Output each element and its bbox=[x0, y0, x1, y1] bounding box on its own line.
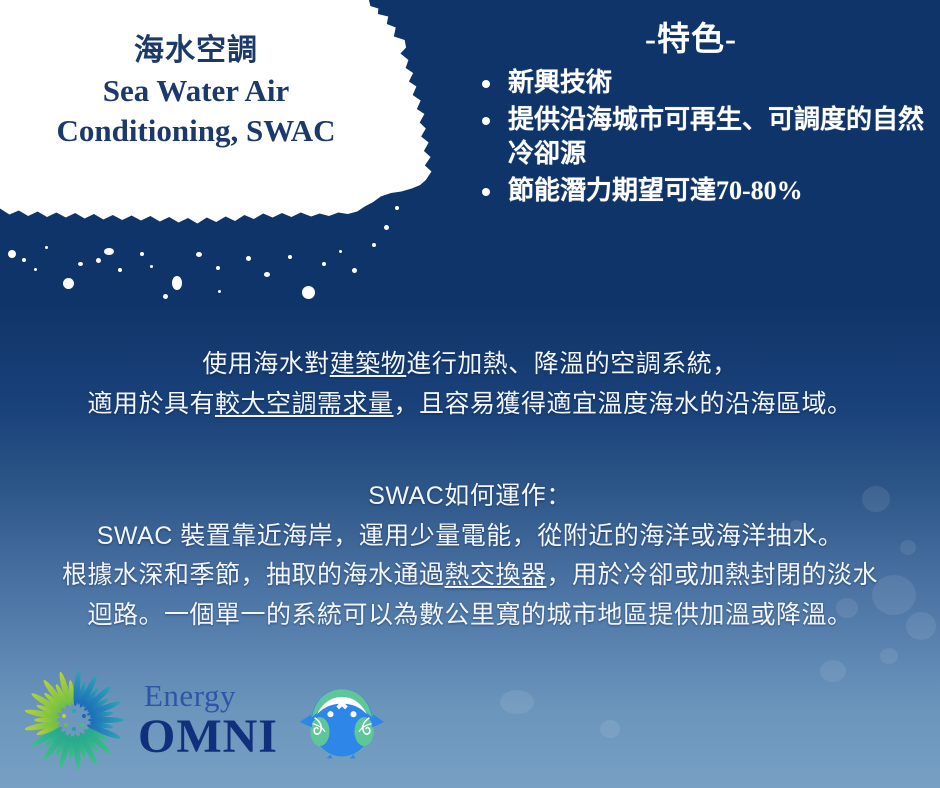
howitworks-paragraph: SWAC如何運作： SWAC 裝置靠近海岸，運用少量電能，從附近的海洋或海洋抽水… bbox=[0, 477, 940, 635]
english-title-line-1: Sea Water Air bbox=[0, 73, 392, 109]
splash-droplet bbox=[218, 290, 221, 293]
definition-line-1: 使用海水對建築物進行加熱、降溫的空調系統， bbox=[0, 345, 940, 385]
splash-droplet bbox=[196, 252, 202, 257]
features-list: 新興技術 提供沿海城市可再生、可調度的自然冷卻源 節能潛力期望可達70-80% bbox=[452, 66, 930, 208]
splash-droplet bbox=[322, 262, 326, 266]
water-splatter-decor bbox=[880, 648, 898, 664]
howitworks-heading: SWAC如何運作： bbox=[0, 477, 940, 517]
splash-droplet bbox=[163, 294, 168, 299]
splash-droplet bbox=[246, 256, 251, 261]
splash-droplet bbox=[34, 268, 37, 271]
definition-line-2-part-a: 適用於具有 bbox=[87, 390, 215, 418]
feature-item: 新興技術 bbox=[476, 66, 930, 101]
definition-line-2: 適用於具有較大空調需求量，且容易獲得適宜溫度海水的沿海區域。 bbox=[0, 385, 940, 425]
splash-droplet bbox=[395, 206, 399, 210]
splash-droplet bbox=[264, 272, 270, 277]
footer-logo-bar: Energy OMNI bbox=[18, 666, 390, 774]
features-block: -特色- 新興技術 提供沿海城市可再生、可調度的自然冷卻源 節能潛力期望可達70… bbox=[452, 12, 930, 210]
water-splatter-decor bbox=[600, 720, 620, 738]
definition-line-1-underlined: 建築物 bbox=[330, 350, 407, 378]
english-title-line-2: Conditioning, SWAC bbox=[0, 113, 392, 149]
splash-droplet bbox=[104, 248, 114, 255]
bird-mascot-icon bbox=[294, 672, 390, 768]
splash-droplet bbox=[352, 268, 357, 273]
sunburst-icon bbox=[18, 666, 130, 774]
splash-droplet bbox=[216, 266, 220, 270]
splash-droplet bbox=[22, 258, 26, 262]
splash-droplet bbox=[339, 250, 342, 253]
splash-droplet bbox=[372, 243, 376, 247]
howitworks-line-2-part-a: 根據水深和季節，抽取的海水通過 bbox=[62, 561, 445, 589]
definition-line-1-part-a: 使用海水對 bbox=[202, 350, 330, 378]
splash-droplet bbox=[45, 246, 48, 249]
howitworks-line-1: SWAC 裝置靠近海岸，運用少量電能，從附近的海洋或海洋抽水。 bbox=[0, 517, 940, 557]
howitworks-line-2-part-b: ，用於冷卻或加熱封閉的淡水 bbox=[547, 561, 879, 589]
splash-droplet bbox=[63, 278, 74, 289]
splash-droplet bbox=[78, 262, 83, 266]
feature-item: 提供沿海城市可再生、可調度的自然冷卻源 bbox=[476, 103, 930, 172]
definition-line-1-part-b: 進行加熱、降溫的空調系統， bbox=[406, 350, 738, 378]
brand-energy-text: Energy bbox=[144, 680, 278, 711]
features-heading: -特色- bbox=[452, 12, 930, 60]
howitworks-line-2-underlined: 熱交換器 bbox=[444, 561, 546, 589]
title-block: 海水空調 Sea Water Air Conditioning, SWAC bbox=[0, 34, 392, 149]
brand-omni-text: OMNI bbox=[138, 713, 278, 761]
chinese-title: 海水空調 bbox=[0, 34, 392, 69]
splash-droplet bbox=[8, 250, 16, 258]
omni-wordmark: Energy OMNI bbox=[138, 680, 278, 761]
splash-droplet bbox=[384, 225, 389, 230]
splash-droplet bbox=[140, 252, 144, 256]
splash-droplet bbox=[150, 265, 153, 268]
water-splatter-decor bbox=[500, 690, 534, 714]
splash-droplet bbox=[302, 286, 315, 299]
howitworks-line-2: 根據水深和季節，抽取的海水通過熱交換器，用於冷卻或加熱封閉的淡水 bbox=[0, 556, 940, 596]
howitworks-line-3: 迴路。一個單一的系統可以為數公里寬的城市地區提供加溫或降溫。 bbox=[0, 596, 940, 636]
splash-droplet bbox=[288, 255, 292, 259]
water-splatter-decor bbox=[820, 660, 846, 682]
definition-line-2-part-b: ，且容易獲得適宜溫度海水的沿海區域。 bbox=[394, 390, 853, 418]
splash-droplet bbox=[118, 268, 122, 272]
splash-droplet bbox=[96, 258, 101, 263]
feature-item: 節能潛力期望可達70-80% bbox=[476, 174, 930, 209]
definition-line-2-underlined: 較大空調需求量 bbox=[215, 390, 394, 418]
definition-paragraph: 使用海水對建築物進行加熱、降溫的空調系統， 適用於具有較大空調需求量，且容易獲得… bbox=[0, 345, 940, 424]
splash-droplet bbox=[172, 276, 182, 290]
poster-canvas: 海水空調 Sea Water Air Conditioning, SWAC -特… bbox=[0, 0, 940, 788]
